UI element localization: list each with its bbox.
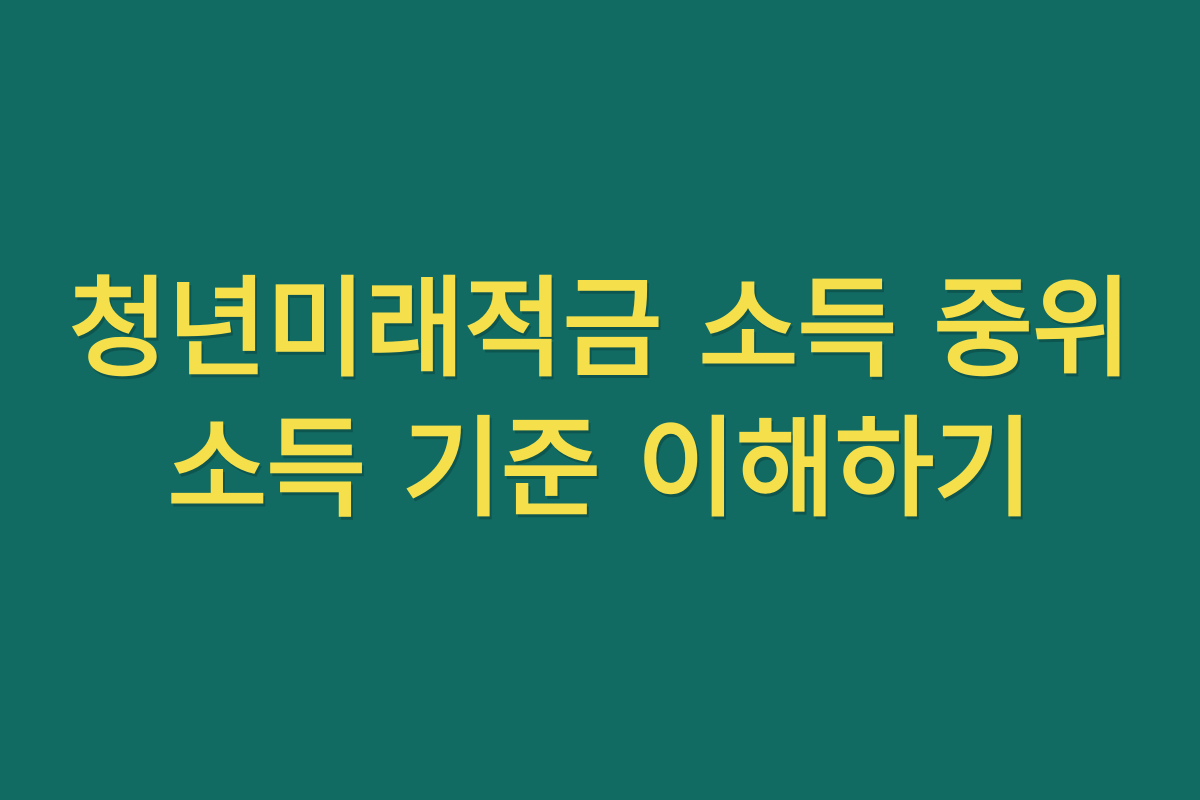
page-title-line-1: 청년미래적금 소득 중위 <box>40 260 1160 400</box>
title-card-banner: 청년미래적금 소득 중위 소득 기준 이해하기 <box>0 0 1200 800</box>
page-title: 청년미래적금 소득 중위 소득 기준 이해하기 <box>0 260 1200 541</box>
page-title-line-2: 소득 기준 이해하기 <box>40 400 1160 540</box>
